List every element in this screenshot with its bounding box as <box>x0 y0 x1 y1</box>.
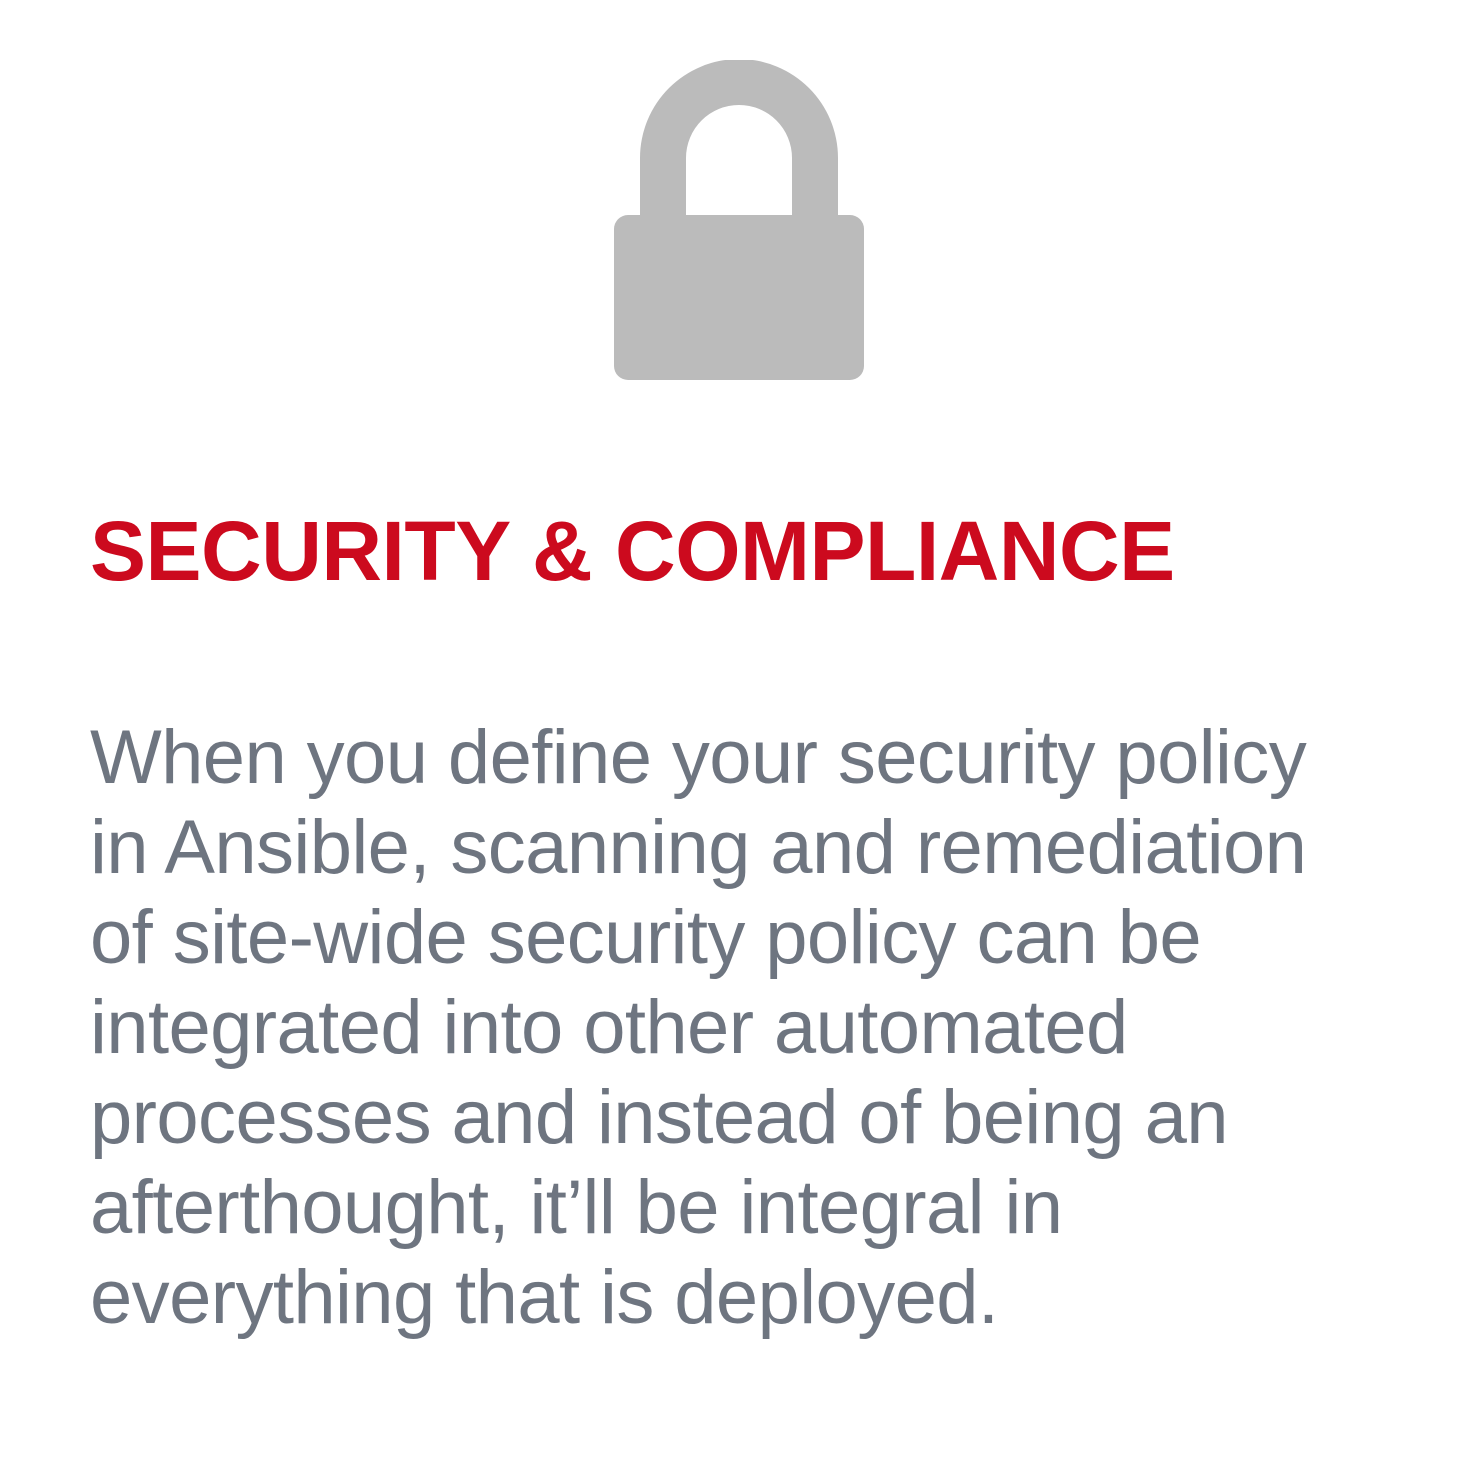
body-line: When you define your security policy <box>90 713 1420 803</box>
body-paragraph: When you define your security policy in … <box>90 713 1420 1343</box>
lock-icon-container <box>0 60 1477 390</box>
body-line: everything that is deployed. <box>90 1253 1420 1343</box>
body-line: integrated into other automated <box>90 983 1420 1073</box>
body-line: of site-wide security policy can be <box>90 893 1420 983</box>
lock-icon <box>614 60 864 380</box>
page-title: SECURITY & COMPLIANCE <box>90 503 1390 599</box>
body-line: in Ansible, scanning and remediation <box>90 803 1420 893</box>
body-line: processes and instead of being an <box>90 1073 1420 1163</box>
lock-shackle-shape <box>640 60 838 225</box>
lock-body-shape <box>614 215 864 380</box>
security-compliance-card: SECURITY & COMPLIANCE When you define yo… <box>0 0 1477 1471</box>
body-line: afterthought, it’ll be integral in <box>90 1163 1420 1253</box>
